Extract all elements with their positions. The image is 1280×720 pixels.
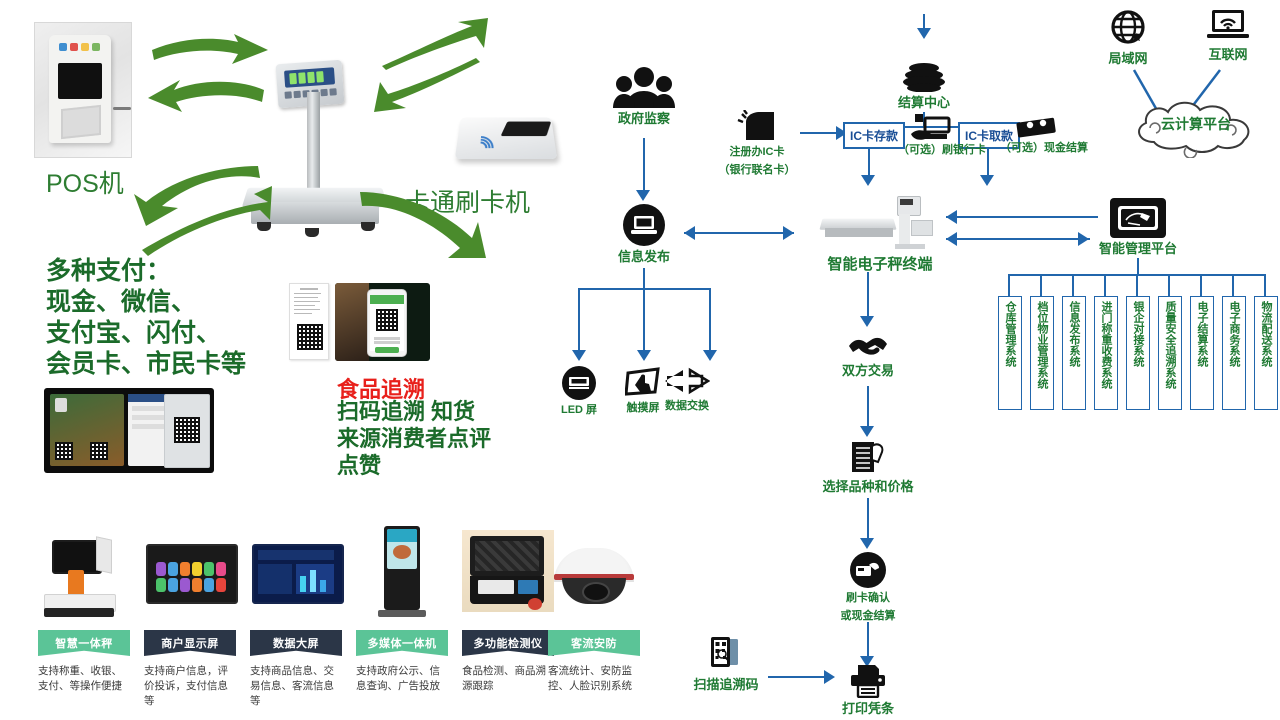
node-register-ic-card: 注册办IC卡 （银行联名卡） — [716, 110, 798, 178]
trace-line-0: 扫码追溯 知货 — [337, 398, 491, 425]
connector-sub-2 — [1072, 274, 1074, 296]
connector-sub-3 — [1104, 274, 1106, 296]
connector-select-to-swipe — [867, 498, 869, 542]
node-label-info-release: 信息发布 — [604, 249, 684, 264]
node-label-settlement: 结算中心 — [886, 95, 962, 110]
hand-card-icon — [909, 112, 957, 142]
product-name-4: 多功能检测仪 — [474, 635, 543, 651]
connector-sub-5 — [1168, 274, 1170, 296]
subsystem-label-2: 信息发布系统 — [1068, 301, 1080, 367]
node-settlement-center: 结算中心 — [886, 62, 962, 110]
node-label-led: LED 屏 — [552, 403, 606, 418]
globe-icon — [1108, 8, 1148, 48]
node-label-cloud-platform: 云计算平台 — [1130, 114, 1262, 134]
green-arrow-down-right — [360, 186, 488, 274]
subsystem-label-6: 电子结算系统 — [1196, 301, 1208, 367]
trace-line-2: 点赞 — [337, 452, 491, 479]
product-name-3: 多媒体一体机 — [368, 635, 437, 651]
node-info-release: 信息发布 — [604, 204, 684, 264]
arrow-platform-in — [1078, 232, 1089, 246]
payment-line-2: 支付宝、闪付、 — [46, 318, 246, 349]
handshake-icon — [847, 330, 889, 360]
banknote-icon — [1015, 112, 1059, 140]
phone-traceability-app-photo — [335, 283, 430, 361]
node-transaction: 双方交易 — [830, 330, 906, 378]
product-image-5 — [548, 522, 640, 626]
node-led-screen: LED 屏 — [552, 366, 606, 418]
connector-settlement-top — [923, 14, 925, 30]
arrow-scale-to-transaction — [860, 316, 874, 327]
node-label-scan-trace: 扫描追溯码 — [688, 677, 764, 692]
qr-scan-phone-icon — [706, 636, 746, 674]
subsystem-7[interactable]: 电子商务系统 — [1222, 296, 1246, 410]
connector-swipe-to-print — [867, 622, 869, 660]
node-label-transaction: 双方交易 — [830, 363, 906, 378]
node-swipe-confirm: 刷卡确认 或现金结算 — [826, 552, 910, 624]
node-select-variety-price: 选择品种和价格 — [818, 440, 918, 494]
subsystem-0[interactable]: 仓库管理系统 — [998, 296, 1022, 410]
connector-info-to-scale — [684, 232, 794, 234]
arrow-info-to-scale — [783, 226, 794, 240]
receipt-with-qr-photo — [289, 283, 329, 360]
connector-transaction-to-select — [867, 386, 869, 430]
connector-gov-to-info — [643, 138, 645, 194]
arrow-to-scale-upper — [946, 210, 957, 224]
node-label-swipe-1: 刷卡确认 — [826, 591, 910, 606]
subsystem-6[interactable]: 电子结算系统 — [1190, 296, 1214, 410]
node-label-gov-supervision: 政府监察 — [596, 111, 692, 126]
node-label-management-platform: 智能管理平台 — [1090, 241, 1186, 256]
node-label-lan: 局域网 — [1096, 51, 1160, 66]
food-traceability-text: 扫码追溯 知货 来源消费者点评 点赞 — [337, 398, 491, 479]
node-label-data-exchange: 数据交换 — [656, 399, 718, 414]
node-cloud-platform: 云计算平台 — [1130, 96, 1262, 163]
product-desc-1: 支持商户信息，评价投诉，支付信息等 — [144, 664, 236, 709]
connector-sub-7 — [1232, 274, 1234, 296]
product-card-4: 多功能检测仪 食品检测、商品溯源跟踪 — [462, 522, 554, 694]
node-label-optional-bank: （可选）刷银行卡 — [898, 143, 968, 158]
subsystem-5[interactable]: 质量安全追溯系统 — [1158, 296, 1182, 410]
node-scan-trace-code: 扫描追溯码 — [688, 636, 764, 692]
product-tag-2: 数据大屏 — [250, 630, 342, 656]
tablet-traceability-screens-photo — [44, 388, 214, 473]
node-gov-supervision: 政府监察 — [596, 66, 692, 126]
connector-sub-1 — [1040, 274, 1042, 296]
pos-label: POS机 — [46, 164, 124, 200]
node-print-receipt: 打印凭条 — [830, 664, 906, 716]
subsystem-label-1: 档位物业管理系统 — [1036, 301, 1048, 389]
connector-info-touch — [643, 288, 645, 354]
product-tag-4: 多功能检测仪 — [462, 630, 554, 656]
node-label-internet: 互联网 — [1196, 47, 1260, 62]
printer-icon — [847, 664, 889, 698]
connector-sub-6 — [1200, 274, 1202, 296]
rfid-card-reader-photo — [452, 104, 560, 176]
connector-info-stem — [643, 268, 645, 290]
green-arrow-scale-to-pos — [148, 78, 266, 120]
arrow-select-to-swipe — [860, 538, 874, 549]
list-hand-icon — [848, 440, 888, 476]
product-name-5: 客流安防 — [571, 635, 617, 651]
subsystem-1[interactable]: 档位物业管理系统 — [1030, 296, 1054, 410]
subsystem-label-8: 物流配送系统 — [1260, 301, 1272, 367]
connector-scan-to-print — [768, 676, 830, 678]
product-name-1: 商户显示屏 — [161, 635, 219, 651]
product-tag-3: 多媒体一体机 — [356, 630, 448, 656]
subsystem-label-7: 电子商务系统 — [1228, 301, 1240, 367]
node-label-register-ic-sub: （银行联名卡） — [716, 163, 798, 178]
connector-sub-4 — [1136, 274, 1138, 296]
product-desc-0: 支持称重、收银、支付、等操作便捷 — [38, 664, 130, 694]
product-desc-4: 食品检测、商品溯源跟踪 — [462, 664, 554, 694]
node-management-platform: 智能管理平台 — [1090, 198, 1186, 256]
node-lan: 局域网 — [1096, 8, 1160, 66]
payment-line-1: 现金、微信、 — [46, 287, 246, 318]
green-arrow-reader-to-scale — [374, 58, 484, 114]
product-card-5: 客流安防 客流统计、安防监控、人脸识别系统 — [548, 522, 640, 694]
node-label-select-variety: 选择品种和价格 — [818, 479, 918, 494]
product-card-0: 智慧一体秤 支持称重、收银、支付、等操作便捷 — [38, 522, 130, 694]
product-desc-5: 客流统计、安防监控、人脸识别系统 — [548, 664, 640, 694]
arrow-gov-to-info — [636, 190, 650, 201]
connector-sub-0 — [1008, 274, 1010, 296]
arrow-ic-withdraw-down — [980, 175, 994, 186]
subsystem-4[interactable]: 银企对接系统 — [1126, 296, 1150, 410]
connector-sub-8 — [1264, 274, 1266, 296]
product-card-2: 数据大屏 支持商品信息、交易信息、客流信息等 — [250, 522, 342, 709]
subsystem-3[interactable]: 进门称重收费系统 — [1094, 296, 1118, 410]
subsystem-label-5: 质量安全追溯系统 — [1164, 301, 1176, 389]
connector-info-data — [709, 288, 711, 354]
node-optional-cash: （可选）现金结算 — [1000, 112, 1074, 156]
subsystem-label-0: 仓库管理系统 — [1004, 301, 1016, 367]
node-optional-bank-card: （可选）刷银行卡 — [898, 112, 968, 158]
node-label-scale-terminal: 智能电子秤终端 — [812, 257, 948, 272]
arrow-ic-deposit-down — [861, 175, 875, 186]
arrow-scan-to-print — [824, 670, 835, 684]
subsystem-label-4: 银企对接系统 — [1132, 301, 1144, 367]
green-arrow-pos-to-scale — [150, 34, 270, 76]
ic-deposit-box[interactable]: IC卡存款 — [843, 122, 905, 149]
node-label-print-receipt: 打印凭条 — [830, 701, 906, 716]
payment-methods-text: 多种支付： 现金、微信、 支付宝、闪付、 会员卡、市民卡等 — [46, 256, 246, 380]
arrow-transaction-to-select — [860, 426, 874, 437]
arrow-to-led — [572, 350, 586, 361]
product-name-0: 智慧一体秤 — [55, 635, 113, 651]
arrow-to-data — [703, 350, 717, 361]
connector-register-to-ic — [800, 132, 838, 134]
pos-terminal-photo — [34, 22, 132, 158]
smart-scale-terminal-image — [819, 192, 941, 254]
people-group-icon — [613, 66, 675, 108]
subsystem-label-3: 进门称重收费系统 — [1100, 301, 1112, 389]
product-desc-2: 支持商品信息、交易信息、客流信息等 — [250, 664, 342, 709]
product-image-2 — [250, 522, 342, 626]
node-internet: 互联网 — [1196, 8, 1260, 62]
product-tag-0: 智慧一体秤 — [38, 630, 130, 656]
payment-line-0: 多种支付： — [46, 256, 246, 287]
management-platform-icon — [1110, 198, 1166, 238]
coin-stack-icon — [901, 62, 947, 92]
subsystem-2[interactable]: 信息发布系统 — [1062, 296, 1086, 410]
green-arrow-up-right — [142, 186, 272, 256]
arrow-to-touch — [637, 350, 651, 361]
node-smart-scale-terminal: 智能电子秤终端 — [812, 192, 948, 272]
product-image-3 — [356, 522, 448, 626]
product-image-0 — [38, 522, 130, 626]
product-desc-3: 支持政府公示、信息查询、广告投放 — [356, 664, 448, 694]
product-tag-1: 商户显示屏 — [144, 630, 236, 656]
arrow-scale-to-info — [684, 226, 695, 240]
product-card-3: 多媒体一体机 支持政府公示、信息查询、广告投放 — [356, 522, 448, 694]
product-name-2: 数据大屏 — [273, 635, 319, 651]
card-swipe-confirm-icon — [850, 552, 886, 588]
product-tag-5: 客流安防 — [548, 630, 640, 656]
connector-info-led — [578, 288, 580, 354]
connector-scale-to-platform-upper — [946, 216, 1098, 218]
subsystem-8[interactable]: 物流配送系统 — [1254, 296, 1278, 410]
product-image-4 — [462, 522, 554, 626]
node-data-exchange: 数据交换 — [656, 366, 718, 414]
trace-line-1: 来源消费者点评 — [337, 425, 491, 452]
node-label-optional-cash: （可选）现金结算 — [1000, 141, 1074, 156]
payment-line-3: 会员卡、市民卡等 — [46, 349, 246, 380]
connector-scale-to-transaction — [867, 272, 869, 320]
wifi-laptop-icon — [1205, 8, 1251, 44]
card-swipe-icon — [734, 110, 780, 142]
product-card-1: 商户显示屏 支持商户信息，评价投诉，支付信息等 — [144, 522, 236, 709]
arrow-to-scale-lower — [946, 232, 957, 246]
product-image-1 — [144, 522, 236, 626]
node-label-register-ic: 注册办IC卡 — [716, 145, 798, 160]
laptop-icon — [623, 204, 665, 246]
data-exchange-icon — [664, 366, 710, 396]
led-screen-icon — [562, 366, 596, 400]
